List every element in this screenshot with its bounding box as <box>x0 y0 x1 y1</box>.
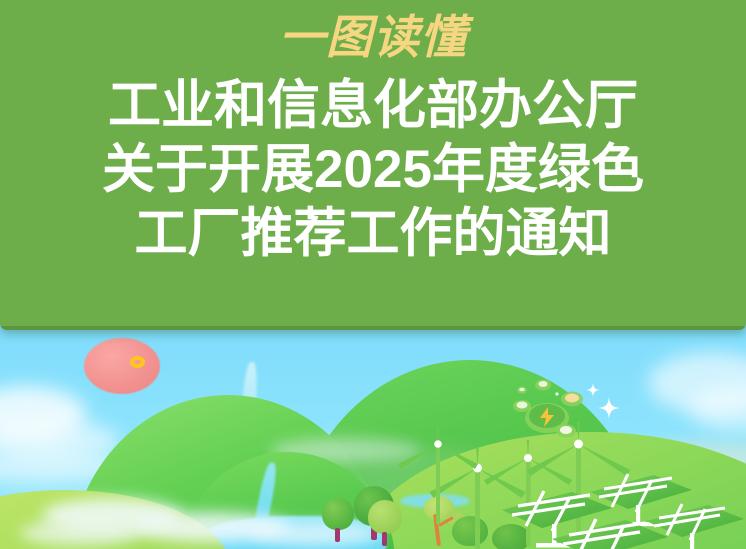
title-line-1: 工业和信息化部办公厅 <box>0 74 746 138</box>
page-title: 工业和信息化部办公厅 关于开展2025年度绿色 工厂推荐工作的通知 <box>0 74 746 266</box>
sparkle-icon <box>597 396 621 420</box>
eyebrow-label: 一图读懂 <box>0 9 746 65</box>
poster-root: 一图读懂 工业和信息化部办公厅 关于开展2025年度绿色 工厂推荐工作的通知 <box>0 0 746 549</box>
yellow-ring-icon <box>130 356 145 368</box>
title-line-2: 关于开展2025年度绿色 <box>0 138 746 202</box>
tree-trunk <box>335 528 340 542</box>
pink-balloon-icon <box>84 338 160 394</box>
tree-crown <box>322 498 354 530</box>
wind-turbine-4 <box>384 428 494 538</box>
header-banner: 一图读懂 工业和信息化部办公厅 关于开展2025年度绿色 工厂推荐工作的通知 <box>0 0 746 330</box>
mist-cloud <box>20 520 140 546</box>
title-line-3: 工厂推荐工作的通知 <box>0 202 746 266</box>
solar-panel-4 <box>550 512 676 549</box>
tree-small-mid <box>320 498 358 548</box>
